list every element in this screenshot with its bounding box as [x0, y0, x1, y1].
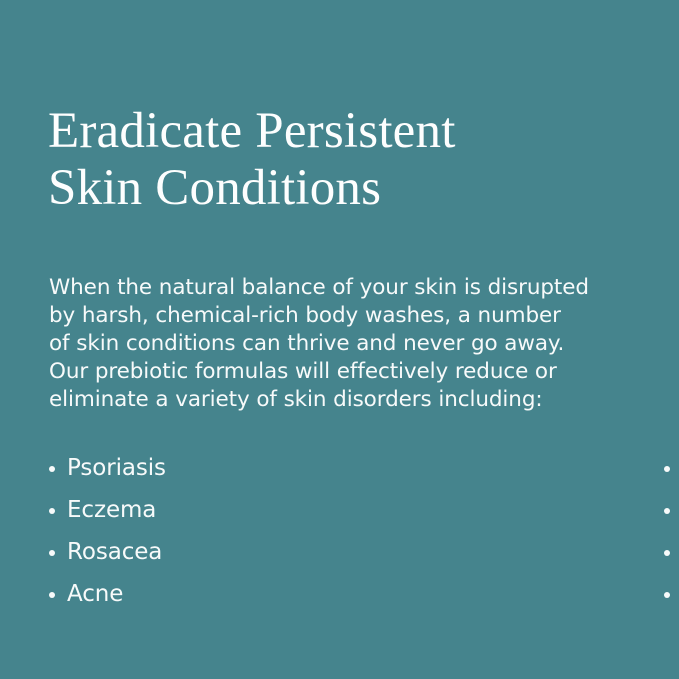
body-paragraph: When the natural balance of your skin is…: [49, 274, 629, 414]
conditions-column-right: Premature Aging Keratosis Dry Skin Aller…: [332, 447, 679, 615]
conditions-list-left: Psoriasis Eczema Rosacea Acne: [49, 447, 332, 615]
list-item: Psoriasis: [49, 447, 332, 489]
list-item: Premature Aging: [664, 447, 679, 489]
body-paragraph-line-3: of skin conditions can thrive and never …: [49, 330, 629, 358]
conditions-columns: Psoriasis Eczema Rosacea Acne: [0, 447, 679, 615]
list-item: Keratosis: [664, 489, 679, 531]
list-item-label: Psoriasis: [67, 447, 166, 489]
body-paragraph-line-1: When the natural balance of your skin is…: [49, 274, 629, 302]
page-title-line-2: Skin Conditions: [48, 160, 628, 217]
list-item: Allergies: [664, 573, 679, 615]
list-item: Eczema: [49, 489, 332, 531]
conditions-column-left: Psoriasis Eczema Rosacea Acne: [0, 447, 332, 615]
bullet-dot-icon: [664, 508, 670, 514]
conditions-list-right: Premature Aging Keratosis Dry Skin Aller…: [664, 447, 679, 615]
page-title-line-1: Eradicate Persistent: [48, 103, 628, 160]
bullet-dot-icon: [49, 508, 55, 514]
bullet-dot-icon: [664, 466, 670, 472]
bullet-dot-icon: [664, 592, 670, 598]
page-title: Eradicate Persistent Skin Conditions: [48, 103, 628, 217]
bullet-dot-icon: [49, 592, 55, 598]
promo-panel: Eradicate Persistent Skin Conditions Whe…: [0, 0, 679, 679]
bullet-dot-icon: [49, 550, 55, 556]
bullet-dot-icon: [664, 550, 670, 556]
list-item: Rosacea: [49, 531, 332, 573]
body-paragraph-line-2: by harsh, chemical-rich body washes, a n…: [49, 302, 629, 330]
body-paragraph-line-5: eliminate a variety of skin disorders in…: [49, 386, 629, 414]
list-item-label: Eczema: [67, 489, 156, 531]
list-item: Dry Skin: [664, 531, 679, 573]
body-paragraph-line-4: Our prebiotic formulas will effectively …: [49, 358, 629, 386]
list-item-label: Rosacea: [67, 531, 162, 573]
list-item: Acne: [49, 573, 332, 615]
bullet-dot-icon: [49, 466, 55, 472]
list-item-label: Acne: [67, 573, 123, 615]
